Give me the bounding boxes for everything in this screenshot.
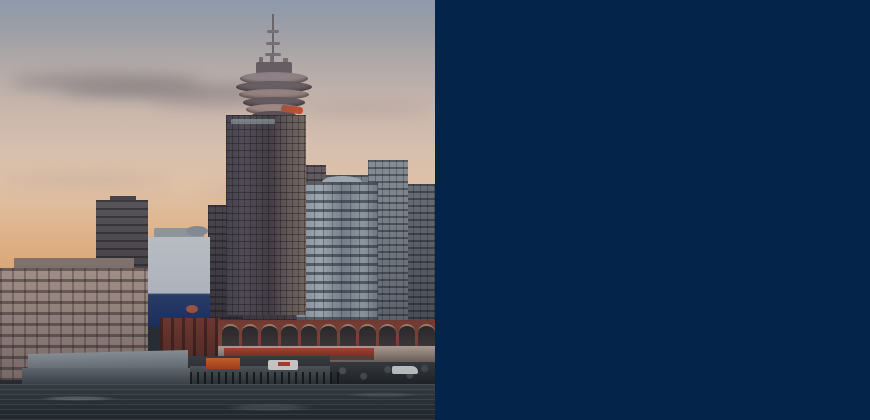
truck-stripe (278, 362, 290, 366)
tower-signage (231, 119, 275, 124)
arch (418, 324, 435, 346)
glass-tower (296, 182, 378, 322)
building-skyline (406, 184, 435, 326)
antenna-ring (267, 30, 279, 33)
arch (222, 324, 239, 346)
building-banner (186, 305, 198, 313)
harbour-water (0, 384, 435, 420)
arch (281, 324, 298, 346)
boat (392, 366, 418, 374)
orange-container (206, 358, 240, 369)
arch (359, 324, 376, 346)
arch (399, 324, 416, 346)
cloud (0, 176, 170, 185)
arch (301, 324, 318, 346)
antenna-ring (265, 53, 281, 56)
wrapped-building (148, 237, 210, 327)
harbour-centre-tower (226, 115, 306, 315)
arch (320, 324, 337, 346)
vancouver-skyline-photo (0, 0, 435, 420)
cloud (300, 104, 430, 114)
antenna-ring (266, 42, 280, 45)
shoreline-rocks (330, 362, 435, 384)
skytrain-guideway (224, 348, 374, 356)
content-panel: UBC MEL MHLP Professional Leadership Mas… (435, 0, 870, 420)
arch (242, 324, 259, 346)
arch (340, 324, 357, 346)
building-dome (186, 226, 208, 236)
promotional-banner: UBC MEL MHLP Professional Leadership Mas… (0, 0, 870, 420)
station-arcade (222, 324, 435, 346)
arch (261, 324, 278, 346)
arch (379, 324, 396, 346)
